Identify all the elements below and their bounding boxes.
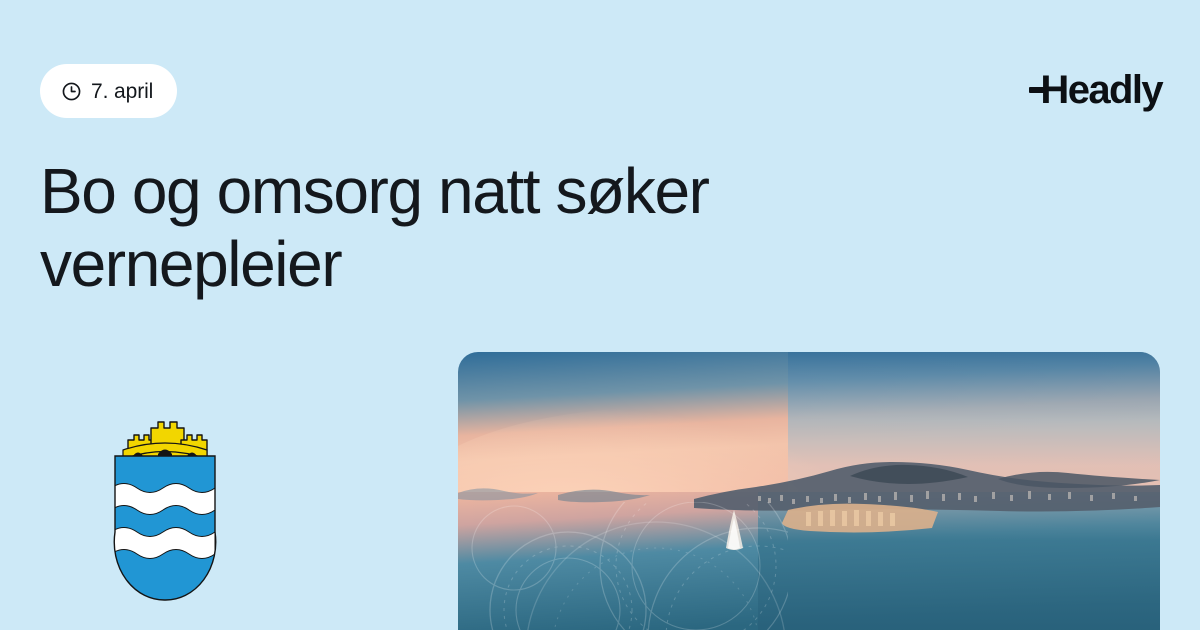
page-title: Bo og omsorg natt søker vernepleier — [40, 155, 1020, 301]
logo-crossbar-mark — [1029, 87, 1046, 93]
brand-name: Headly — [1040, 70, 1162, 110]
haugesund-coat-of-arms-icon — [103, 404, 227, 604]
date-label: 7. april — [91, 81, 153, 102]
clock-icon — [61, 81, 82, 102]
coastal-city-aerial-photo — [458, 352, 1160, 630]
brand-logo[interactable]: Headly — [1040, 66, 1162, 114]
date-badge: 7. april — [40, 64, 177, 118]
social-share-card: 7. april Headly Bo og omsorg natt søker … — [0, 0, 1200, 630]
